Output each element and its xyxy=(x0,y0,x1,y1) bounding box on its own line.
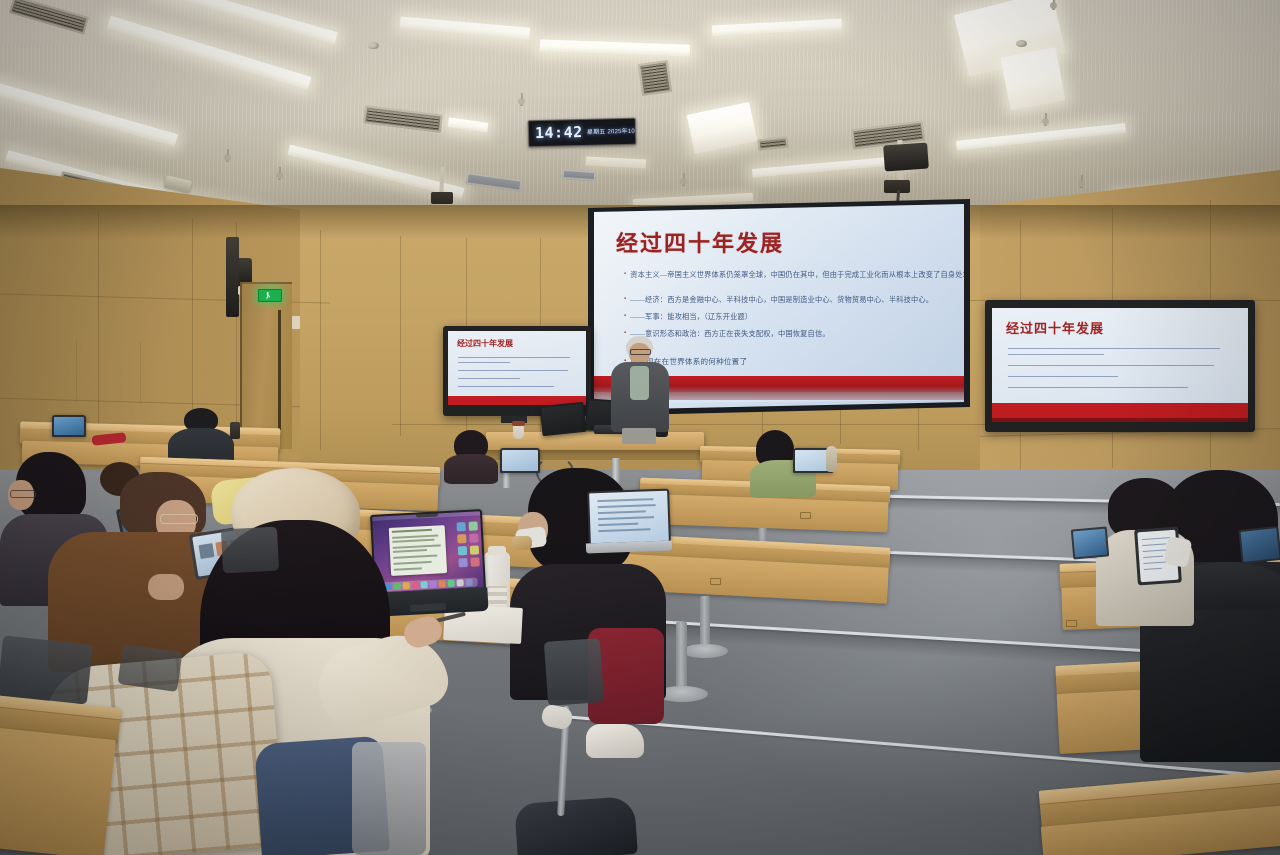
smoke-detector-icon xyxy=(368,42,379,49)
sneaker xyxy=(586,724,644,758)
wall-outlet-icon xyxy=(292,316,300,329)
slide-title: 经过四十年发展 xyxy=(616,226,784,258)
right-monitor-slide-title: 经过四十年发展 xyxy=(1006,318,1104,337)
lecturer-trousers xyxy=(622,428,656,444)
exit-sign-icon xyxy=(258,289,282,302)
slide-bullet: 资本主义—帝国主义世界体系仍笼罩全球，中国仍在其中，但由于完成工业化而从根本上改… xyxy=(624,270,964,280)
left-monitor-slide-title: 经过四十年发展 xyxy=(457,338,513,349)
lecture-hall-photo: 14:42 星期五 2025年10月10日 经过四十年发展 资本主义—帝国主义世… xyxy=(0,0,1280,855)
clock-time: 14:42 xyxy=(535,123,583,142)
backpack-on-floor xyxy=(514,796,638,855)
right-wall-monitor: 经过四十年发展 xyxy=(985,300,1255,432)
desk-latch-icon xyxy=(800,512,811,519)
clock-date: 星期五 2025年10月10日 xyxy=(587,125,636,136)
lecturer xyxy=(604,336,676,442)
thermos-bottle xyxy=(826,446,837,472)
right-monitor-screen: 经过四十年发展 xyxy=(992,308,1248,422)
bottle-cap xyxy=(488,546,506,555)
lecturer-glasses-icon xyxy=(630,349,651,355)
desk-leg-base xyxy=(682,644,728,658)
ceiling-light xyxy=(1000,47,1065,111)
wall-panel-seam xyxy=(76,340,77,402)
laptop-right-far xyxy=(1238,526,1280,564)
wall-panel-seam xyxy=(400,236,401,436)
wall-panel-seam xyxy=(320,230,321,450)
desk-leg xyxy=(676,622,687,694)
cup-lid xyxy=(512,421,525,426)
chair xyxy=(0,635,93,704)
desk-foreground-left-panel xyxy=(0,724,116,855)
chair xyxy=(221,527,279,574)
laptop-mid-row xyxy=(588,490,670,552)
chair xyxy=(118,644,183,692)
exit-door[interactable] xyxy=(240,282,292,449)
chair-back xyxy=(544,638,604,706)
smoke-detector-icon xyxy=(1016,40,1027,47)
sprinkler-head xyxy=(1050,2,1057,9)
coffee-cup xyxy=(513,423,524,439)
student-glasses-icon xyxy=(10,490,36,498)
slide-bullet: ——军事：能攻相当，（辽东开业题） xyxy=(624,312,752,322)
wall-panel-seam xyxy=(140,342,141,404)
lecturer-shirt-visible xyxy=(630,366,649,400)
wall-panel-seam xyxy=(392,424,992,425)
wall-panel-seam xyxy=(98,210,99,460)
desk-latch-icon xyxy=(1066,620,1077,627)
snack-item xyxy=(512,536,532,550)
thermos-bottle xyxy=(230,422,240,439)
sprinkler-head xyxy=(518,98,525,105)
ceiling-digital-clock: 14:42 星期五 2025年10月10日 xyxy=(528,118,637,148)
face-mask-right xyxy=(1164,536,1192,568)
slide-bullet: ——经济：西方是金融中心、半科技中心，中国是制造业中心、货物贸易中心、半科技中心… xyxy=(624,295,933,305)
tablet-right-far xyxy=(1071,526,1109,559)
desk-latch-icon xyxy=(710,578,721,585)
left-monitor-screen: 经过四十年发展 xyxy=(448,331,586,405)
wall-speaker xyxy=(226,237,239,317)
chair-foreground xyxy=(352,742,426,855)
ceiling-vent xyxy=(638,60,672,96)
podium-monitor xyxy=(540,402,587,436)
laptop-back-left xyxy=(52,415,86,439)
wall-speaker xyxy=(883,142,929,171)
